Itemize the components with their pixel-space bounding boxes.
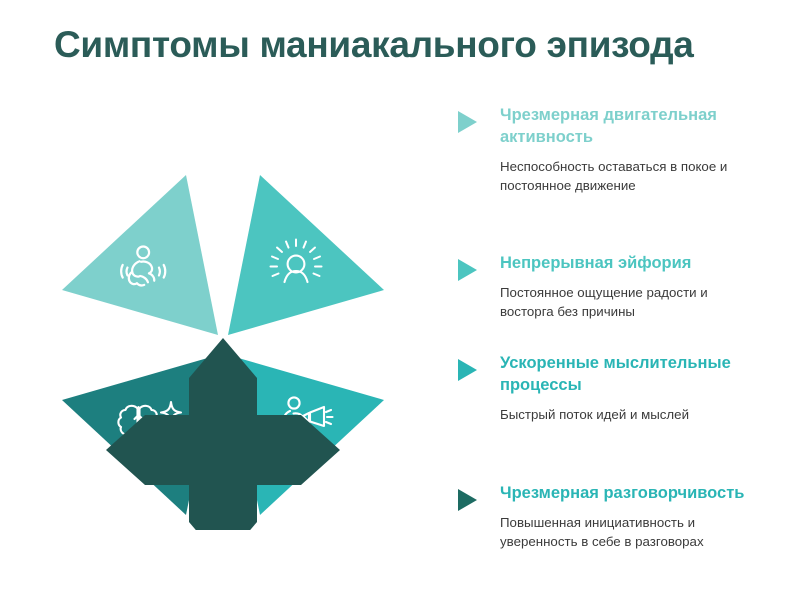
list-item-heading: Чрезмерная разговорчивость bbox=[500, 482, 758, 504]
list-item-heading: Непрерывная эйфория bbox=[500, 252, 758, 274]
list-item-description: Быстрый поток идей и мыслей bbox=[500, 405, 758, 424]
list-item-heading: Чрезмерная двигательная активность bbox=[500, 104, 758, 148]
list-item[interactable]: Непрерывная эйфория Постоянное ощущение … bbox=[458, 252, 758, 321]
center-pointed-cross bbox=[106, 338, 340, 530]
arrow-marker-icon bbox=[458, 359, 477, 381]
list-item-description: Неспособность оставаться в покое и посто… bbox=[500, 157, 758, 195]
list-item[interactable]: Ускоренные мыслительные процессы Быстрый… bbox=[458, 352, 758, 424]
list-item-heading: Ускоренные мыслительные процессы bbox=[500, 352, 758, 396]
list-item[interactable]: Чрезмерная двигательная активность Неспо… bbox=[458, 104, 758, 195]
wedge-top-right bbox=[228, 175, 384, 335]
infographic-page: Симптомы маниакального эпизода bbox=[0, 0, 792, 610]
arrow-marker-icon bbox=[458, 489, 477, 511]
arrow-marker-icon bbox=[458, 111, 477, 133]
list-item[interactable]: Чрезмерная разговорчивость Повышенная ин… bbox=[458, 482, 758, 551]
list-item-description: Постоянное ощущение радости и восторга б… bbox=[500, 283, 758, 321]
arrow-marker-icon bbox=[458, 259, 477, 281]
list-item-description: Повышенная инициативность и уверенность … bbox=[500, 513, 758, 551]
symptom-diagram bbox=[48, 160, 398, 530]
page-title: Симптомы маниакального эпизода bbox=[54, 24, 754, 66]
wedge-top-left bbox=[62, 175, 218, 335]
